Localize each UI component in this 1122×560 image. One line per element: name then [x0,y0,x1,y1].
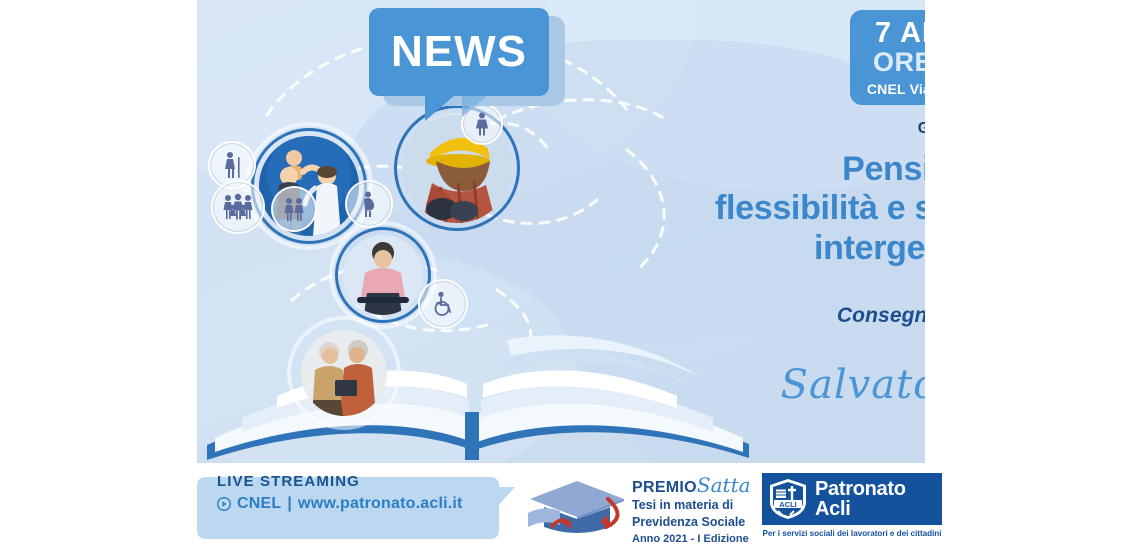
patronato-acli-box: ACLI Patronato Acli [762,473,942,525]
wheelchair-accessibility-icon [418,279,468,329]
news-bubble-tail [425,95,455,121]
premio-line-2: Tesi in materia di [632,498,767,513]
family-group-icon [211,180,265,234]
award-line-1: Consegna premio di laurea [637,302,925,330]
news-badge: NEWS [369,8,549,96]
poster-headline: Pensioni: equità, flessibilità e sosteni… [637,150,925,268]
couple-icon [271,186,317,232]
news-badge-label: NEWS [391,27,527,77]
headline-line-3: intergenerazionale [637,229,925,268]
event-kicker: GIORNATA DI STUDIO [637,120,925,138]
acli-shield-icon: ACLI [768,478,808,520]
play-circle-icon [217,497,231,511]
award-subtitle: Consegna premio di laurea in memoria di [637,302,925,359]
patronato-acli-wordmark: Patronato Acli [815,479,906,520]
premio-satta-logo: PREMIOSatta Tesi in materia di Previdenz… [522,471,762,551]
live-streaming-bubble-tail [497,487,515,507]
event-time: ORE 11:00-14:00 [873,48,925,78]
poster-panel: NEWS 7 APRILE 2022 ORE 11:00-14:00 CNEL … [197,0,925,463]
award-line-2: in memoria di [637,331,925,359]
poster-text-column: GIORNATA DI STUDIO Pensioni: equità, fle… [637,120,925,407]
live-streaming-title: LIVE STREAMING [217,473,360,490]
poster-footer: LIVE STREAMING CNEL | www.patronato.acli… [197,463,925,560]
headline-line-1: Pensioni: equità, [637,150,925,189]
acli-word-1: Patronato [815,479,906,499]
date-badge: 7 APRILE 2022 ORE 11:00-14:00 CNEL Viale… [850,10,925,105]
patronato-acli-logo: ACLI Patronato Acli Per i servizi social… [762,473,947,549]
graduation-cap-icon [522,477,632,543]
live-streaming-channel-row: CNEL | www.patronato.acli.it [217,495,463,513]
award-honoree-name: Salvatore Satta [637,363,925,407]
premio-line-4: Anno 2021 - I Edizione [632,533,767,545]
seated-man-photo [343,235,423,315]
svg-text:ACLI: ACLI [779,500,797,509]
pregnant-woman-icon [345,180,393,228]
poster-stage: NEWS 7 APRILE 2022 ORE 11:00-14:00 CNEL … [0,0,1122,560]
photo-image [301,330,387,416]
live-streaming-channel: CNEL [237,495,281,513]
live-streaming-separator: | [287,495,292,513]
premio-satta-text: PREMIOSatta Tesi in materia di Previdenz… [632,475,767,545]
elderly-couple-photo [301,330,387,416]
headline-line-2: flessibilità e sostenibilità [637,189,925,228]
premio-brand: PREMIOSatta [632,475,767,496]
premio-line-3: Previdenza Sociale [632,515,767,530]
event-date: 7 APRILE 2022 [875,18,925,48]
premio-brand-script: Satta [697,473,751,497]
photo-image [343,235,423,315]
patronato-acli-tagline: Per i servizi sociali dei lavoratori e d… [762,529,942,538]
acli-word-2: Acli [815,499,906,519]
news-bubble-tail-shadow [462,95,488,117]
live-streaming-url[interactable]: www.patronato.acli.it [298,495,463,513]
premio-brand-prefix: PREMIO [632,479,697,496]
event-venue: CNEL Viale David Lubin 2 - ROMA [867,81,925,97]
